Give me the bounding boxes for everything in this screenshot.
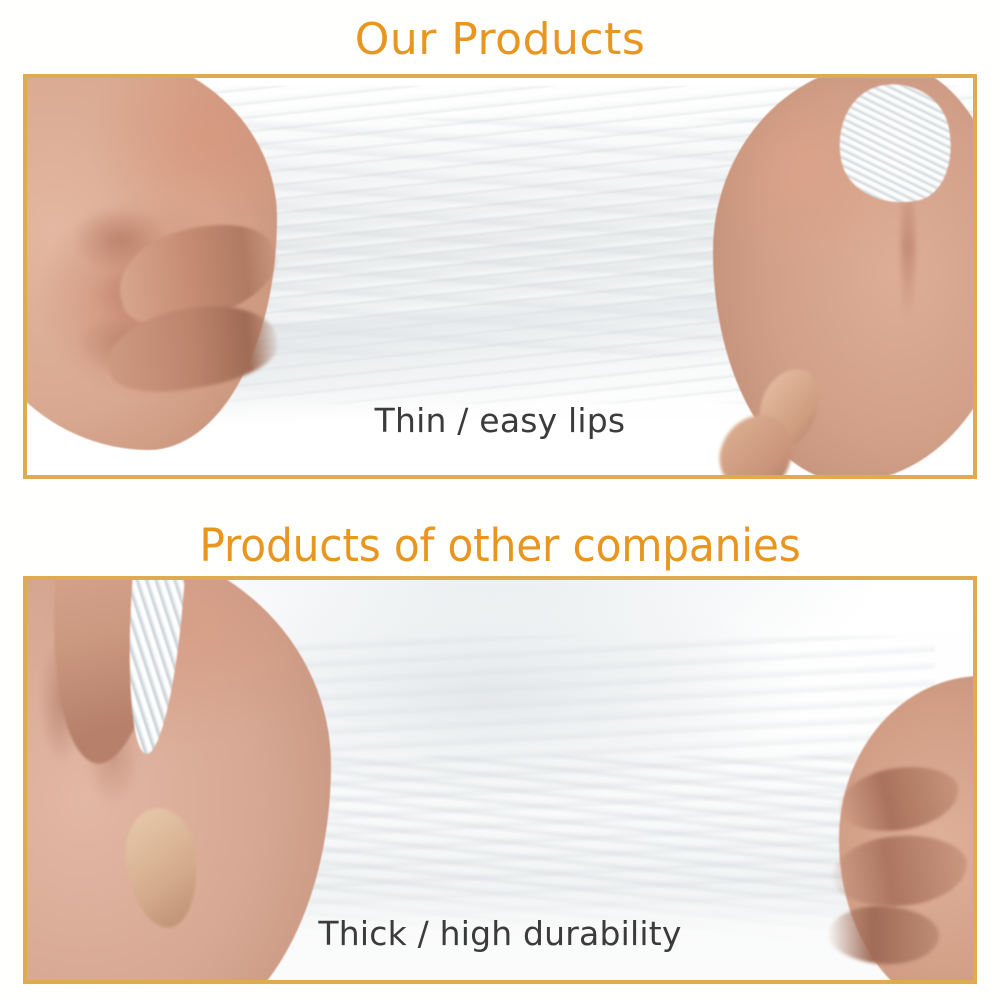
photo-caption-thick: Thick / high durability — [27, 917, 973, 950]
section-heading-other-companies: Products of other companies — [30, 523, 970, 568]
section-heading-our-products: Our Products — [0, 18, 1000, 62]
photo-panel-our-products: Thin / easy lips — [23, 74, 977, 479]
product-photo-thin-film: Thin / easy lips — [27, 78, 973, 475]
left-hand-bottom-fingertip — [121, 805, 203, 932]
comparison-page: Our Products Thin / easy lips Products o… — [0, 0, 1000, 1000]
photo-caption-thin: Thin / easy lips — [27, 404, 973, 437]
product-photo-thick-film: Thick / high durability — [27, 580, 973, 980]
photo-panel-other-companies: Thick / high durability — [23, 576, 977, 984]
